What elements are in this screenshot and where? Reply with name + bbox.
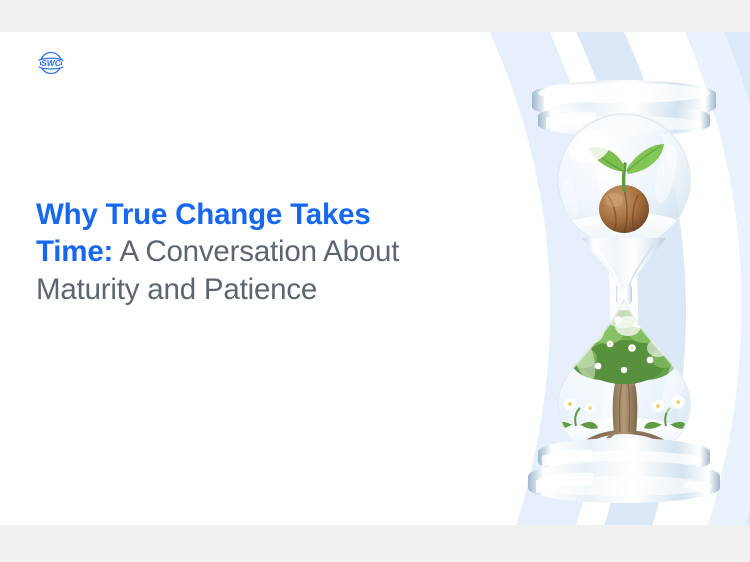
slide-canvas: SWC Why True Change Takes Time: A Conver… xyxy=(0,32,750,525)
hourglass-growth-illustration xyxy=(498,32,750,525)
letterbox-bottom xyxy=(0,525,750,562)
logo-wordmark: SWC xyxy=(41,58,62,68)
page-title: Why True Change Takes Time: A Conversati… xyxy=(36,196,436,308)
letterbox-top xyxy=(0,0,750,32)
screenshot-viewport: SWC Why True Change Takes Time: A Conver… xyxy=(0,0,750,562)
hourglass-base xyxy=(528,438,720,503)
swc-logo[interactable]: SWC xyxy=(32,48,70,78)
